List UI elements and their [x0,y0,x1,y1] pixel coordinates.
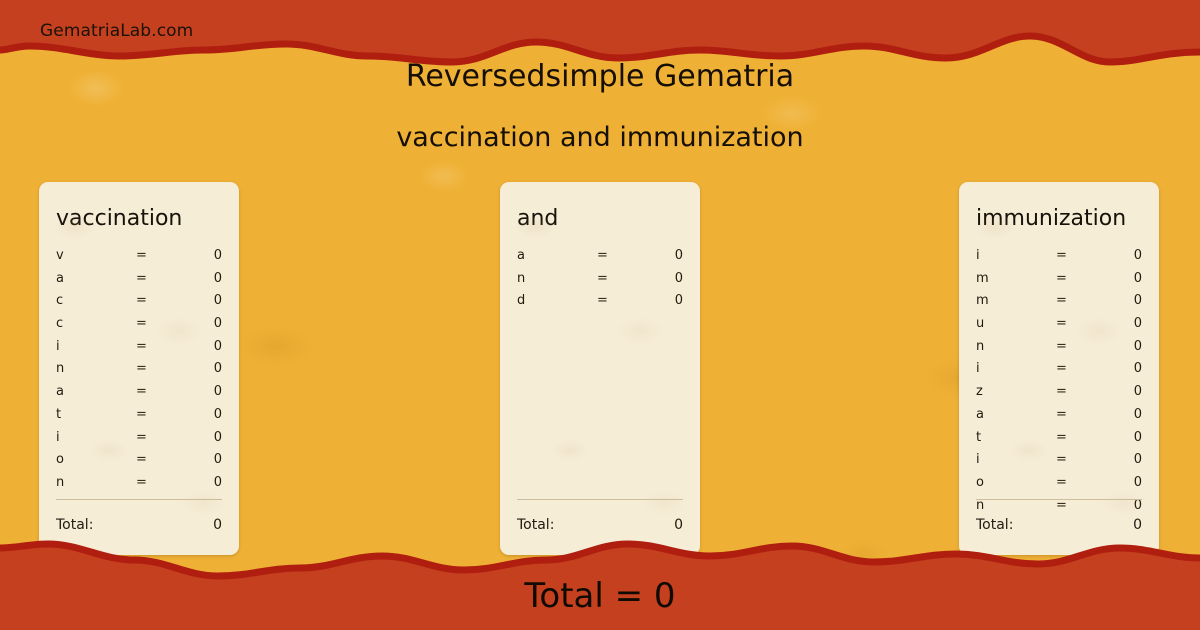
letter-value: 0 [1114,384,1142,399]
letter-value: 0 [194,430,222,445]
card-word-title: immunization [976,208,1142,230]
letter-char: n [976,339,1056,354]
letter-row: n=0 [976,339,1142,362]
letter-row: n=0 [56,475,222,498]
letter-value: 0 [655,293,683,308]
card-divider [56,499,222,500]
letter-char: o [56,452,136,467]
equals-sign: = [136,407,194,422]
letter-char: a [976,407,1056,422]
grand-total: Total = 0 [0,576,1200,616]
page-subtitle: vaccination and immunization [0,122,1200,153]
letter-value: 0 [1114,361,1142,376]
equals-sign: = [136,452,194,467]
letter-char: v [56,248,136,263]
letter-char: u [976,316,1056,331]
equals-sign: = [1056,452,1114,467]
word-card: and a=0 n=0 d=0 Total: 0 [500,182,700,555]
card-total-label: Total: [517,517,674,533]
equals-sign: = [136,248,194,263]
card-total-label: Total: [56,517,213,533]
equals-sign: = [1056,475,1114,490]
letter-char: a [517,248,597,263]
equals-sign: = [136,316,194,331]
letter-value: 0 [194,452,222,467]
letter-char: c [56,293,136,308]
letter-value: 0 [1114,271,1142,286]
letter-row: i=0 [976,452,1142,475]
card-total-value: 0 [1133,517,1142,533]
equals-sign: = [1056,430,1114,445]
card-word-title: and [517,208,683,230]
letter-row: u=0 [976,316,1142,339]
equals-sign: = [136,271,194,286]
letter-value: 0 [194,361,222,376]
letter-row: a=0 [976,407,1142,430]
letter-row: n=0 [517,271,683,294]
letter-value: 0 [1114,452,1142,467]
letter-value: 0 [194,475,222,490]
letter-char: i [56,339,136,354]
card-divider [517,499,683,500]
letter-char: t [56,407,136,422]
letter-row: c=0 [56,293,222,316]
letter-row: m=0 [976,293,1142,316]
letter-value: 0 [1114,430,1142,445]
letter-char: d [517,293,597,308]
letter-row: n=0 [56,361,222,384]
letter-char: i [976,248,1056,263]
letter-row: t=0 [976,430,1142,453]
letter-value: 0 [1114,248,1142,263]
letter-row: z=0 [976,384,1142,407]
letter-row: m=0 [976,271,1142,294]
letter-value: 0 [1114,316,1142,331]
letter-value: 0 [1114,339,1142,354]
letter-row: v=0 [56,248,222,271]
letter-row: o=0 [56,452,222,475]
letter-char: i [976,361,1056,376]
equals-sign: = [597,293,655,308]
letter-row: a=0 [56,271,222,294]
equals-sign: = [1056,339,1114,354]
letter-value: 0 [194,271,222,286]
word-card: immunization i=0 m=0 m=0 u=0 n=0 i=0 z=0… [959,182,1159,555]
equals-sign: = [136,475,194,490]
letter-value: 0 [1114,293,1142,308]
equals-sign: = [1056,407,1114,422]
equals-sign: = [1056,293,1114,308]
letter-char: m [976,271,1056,286]
letter-row: d=0 [517,293,683,316]
card-total: Total: 0 [517,517,683,533]
letter-char: a [56,384,136,399]
letter-row: t=0 [56,407,222,430]
equals-sign: = [1056,248,1114,263]
letter-value: 0 [194,339,222,354]
card-total: Total: 0 [56,517,222,533]
letter-char: i [976,452,1056,467]
letter-row: c=0 [56,316,222,339]
letter-char: m [976,293,1056,308]
letter-row: i=0 [976,361,1142,384]
letter-value: 0 [194,293,222,308]
letter-value-list: i=0 m=0 m=0 u=0 n=0 i=0 z=0 a=0 t=0 i=0 … [976,248,1142,520]
letter-row: i=0 [976,248,1142,271]
card-divider [976,499,1142,500]
letter-char: c [56,316,136,331]
letter-char: i [56,430,136,445]
gematria-result-page: GematriaLab.com Reversedsimple Gematria … [0,0,1200,630]
equals-sign: = [136,339,194,354]
card-total-label: Total: [976,517,1133,533]
letter-row: o=0 [976,475,1142,498]
site-logo[interactable]: GematriaLab.com [40,21,193,41]
letter-char: n [517,271,597,286]
letter-value: 0 [194,316,222,331]
card-total-value: 0 [674,517,683,533]
equals-sign: = [597,248,655,263]
letter-char: n [56,361,136,376]
letter-char: t [976,430,1056,445]
letter-value-list: v=0 a=0 c=0 c=0 i=0 n=0 a=0 t=0 i=0 o=0 … [56,248,222,498]
letter-row: i=0 [56,430,222,453]
letter-char: z [976,384,1056,399]
letter-value-list: a=0 n=0 d=0 [517,248,683,316]
letter-row: a=0 [56,384,222,407]
word-card: vaccination v=0 a=0 c=0 c=0 i=0 n=0 a=0 … [39,182,239,555]
letter-value: 0 [194,248,222,263]
letter-row: i=0 [56,339,222,362]
equals-sign: = [1056,271,1114,286]
letter-value: 0 [194,384,222,399]
letter-char: a [56,271,136,286]
equals-sign: = [136,430,194,445]
letter-char: o [976,475,1056,490]
letter-value: 0 [655,248,683,263]
letter-row: a=0 [517,248,683,271]
equals-sign: = [136,361,194,376]
equals-sign: = [136,384,194,399]
card-total-value: 0 [213,517,222,533]
letter-value: 0 [194,407,222,422]
page-title: Reversedsimple Gematria [0,59,1200,94]
equals-sign: = [1056,316,1114,331]
equals-sign: = [1056,361,1114,376]
card-total: Total: 0 [976,517,1142,533]
equals-sign: = [1056,384,1114,399]
letter-value: 0 [655,271,683,286]
letter-char: n [56,475,136,490]
equals-sign: = [136,293,194,308]
card-word-title: vaccination [56,208,222,230]
letter-value: 0 [1114,475,1142,490]
equals-sign: = [597,271,655,286]
letter-value: 0 [1114,407,1142,422]
